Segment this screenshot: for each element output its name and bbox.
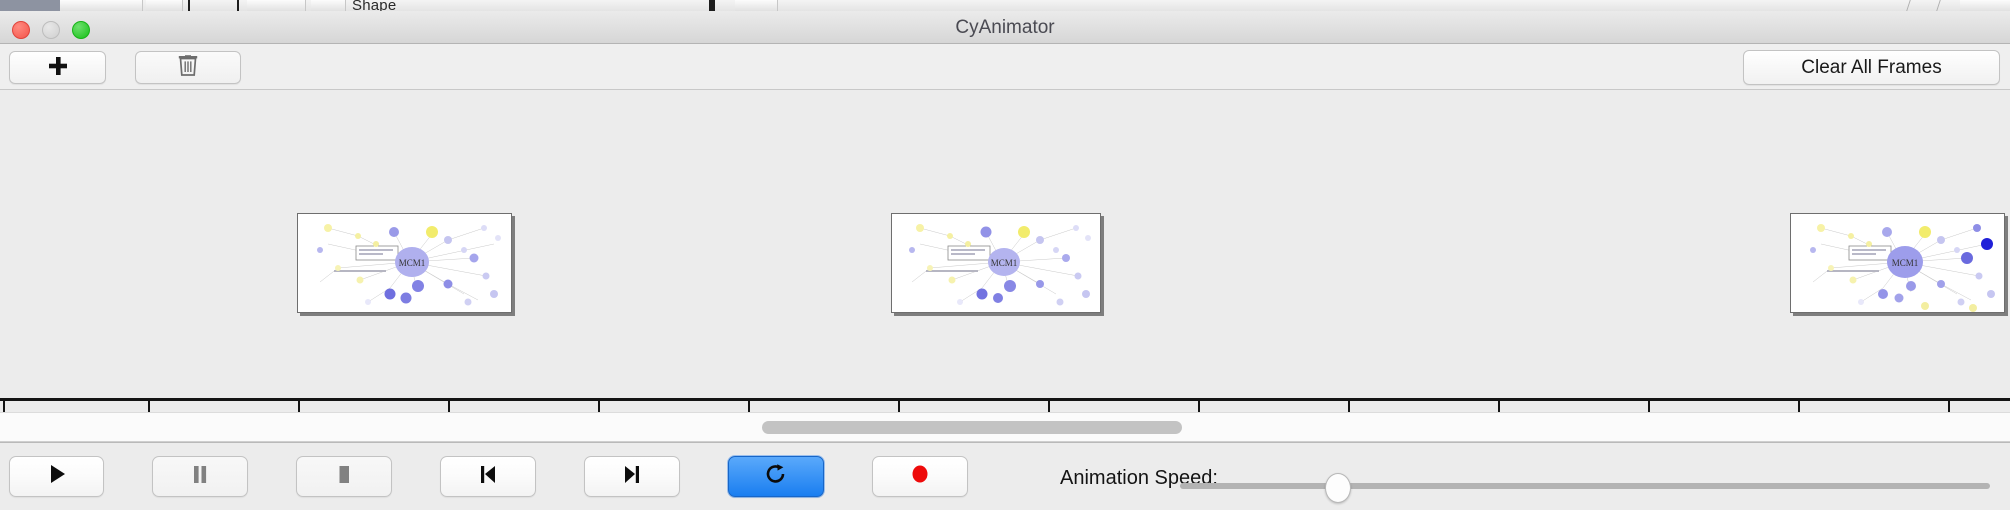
clear-all-frames-label: Clear All Frames <box>1801 57 1941 79</box>
skip-back-icon <box>477 463 499 490</box>
cyanimator-window: Shape CyAnimator <box>0 0 2010 510</box>
previous-frame-button[interactable] <box>440 456 536 497</box>
pause-button[interactable] <box>152 456 248 497</box>
keyframe-thumbnail[interactable]: MCM1 <box>891 213 1101 313</box>
network-preview: MCM1 <box>1791 214 2004 312</box>
window-title: CyAnimator <box>0 11 2010 44</box>
axis-major-tick <box>898 401 900 412</box>
loop-button[interactable] <box>728 456 824 497</box>
axis-major-tick <box>1198 401 1200 412</box>
stop-icon <box>333 463 355 490</box>
scrollbar-thumb[interactable] <box>762 421 1182 434</box>
keyframe-thumbnail[interactable]: MCM1 <box>1790 213 2005 313</box>
axis-minor-tick <box>448 401 450 412</box>
axis-minor-tick <box>1648 401 1650 412</box>
timeline-axis-line <box>0 398 2010 401</box>
svg-text:MCM1: MCM1 <box>399 258 426 268</box>
axis-major-tick <box>1498 401 1500 412</box>
axis-minor-tick <box>148 401 150 412</box>
toolbar: Clear All Frames <box>0 44 2010 90</box>
trash-icon <box>177 53 199 82</box>
add-frame-button[interactable] <box>9 51 106 84</box>
network-preview: MCM1 <box>892 214 1100 312</box>
play-icon <box>46 463 68 490</box>
background-app-label: Shape <box>352 0 396 11</box>
keyframe-thumbnail[interactable]: MCM1 <box>297 213 512 313</box>
pause-icon <box>189 463 211 490</box>
axis-minor-tick <box>748 401 750 412</box>
axis-major-tick <box>298 401 300 412</box>
timeline-scrollbar[interactable] <box>0 412 2010 442</box>
plus-icon <box>47 55 69 81</box>
title-bar: CyAnimator <box>0 11 2010 44</box>
network-preview: MCM1 <box>298 214 511 312</box>
timeline-panel[interactable]: MCM1 <box>0 90 2010 412</box>
axis-minor-tick <box>1048 401 1050 412</box>
animation-speed-slider-thumb[interactable] <box>1325 473 1351 503</box>
axis-major-tick <box>1798 401 1800 412</box>
axis-minor-tick <box>1348 401 1350 412</box>
next-frame-button[interactable] <box>584 456 680 497</box>
play-button[interactable] <box>9 456 104 497</box>
playback-control-bar: Animation Speed: <box>0 442 2010 510</box>
record-button[interactable] <box>872 456 968 497</box>
axis-major-tick <box>3 401 5 412</box>
delete-frame-button[interactable] <box>135 51 241 84</box>
skip-forward-icon <box>621 463 643 490</box>
axis-major-tick <box>598 401 600 412</box>
svg-text:MCM1: MCM1 <box>991 258 1018 268</box>
animation-speed-slider[interactable] <box>1180 483 1990 489</box>
background-app-strip: Shape <box>0 0 2010 11</box>
svg-text:MCM1: MCM1 <box>1892 258 1919 268</box>
clear-all-frames-button[interactable]: Clear All Frames <box>1743 50 2000 85</box>
loop-icon <box>764 462 788 491</box>
record-icon <box>909 463 931 490</box>
stop-button[interactable] <box>296 456 392 497</box>
axis-minor-tick <box>1948 401 1950 412</box>
